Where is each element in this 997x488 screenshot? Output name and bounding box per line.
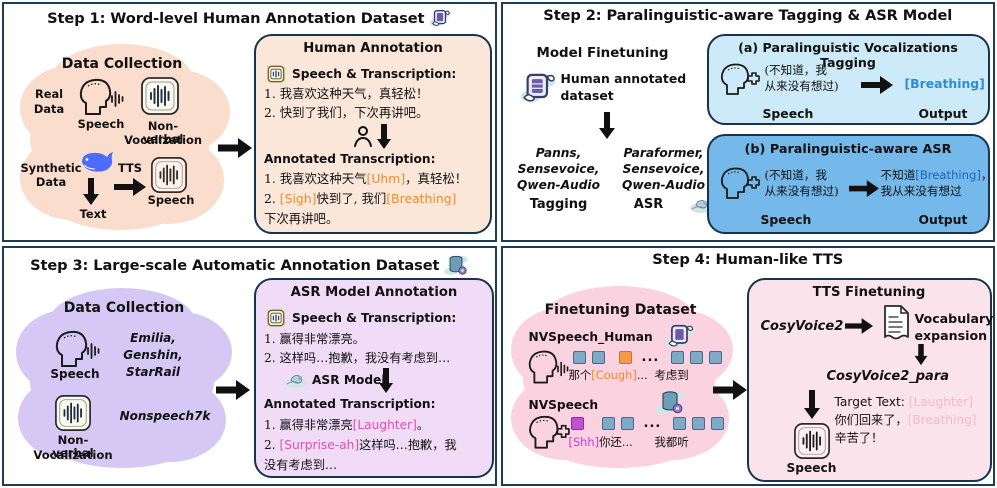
- tts-label: TTS: [118, 162, 142, 175]
- box-b-output-tag: [Breathing]: [915, 168, 981, 182]
- asr-annotation-title: ASR Model Annotation: [256, 285, 492, 300]
- step1-blob-title: Data Collection: [22, 56, 222, 72]
- nvspeech-label: NVSpeech: [529, 398, 599, 412]
- step3-annotated-heading: Annotated Transcription:: [264, 396, 435, 412]
- target-text-line2-pre: 你们回来了，: [835, 413, 908, 427]
- target-text-line3: 辛苦了！: [835, 430, 884, 446]
- row2-text-post: 你还...: [599, 435, 633, 449]
- waveform-icon: [793, 422, 831, 460]
- cosyvoice2-para-label: CosyVoice2_para: [827, 368, 950, 386]
- waveform-icon: [54, 394, 92, 432]
- audio-chip-icon: [264, 62, 288, 86]
- speech-head-icon: [76, 76, 126, 120]
- step3-panel: Step 3: Large-scale Automatic Annotation…: [2, 246, 497, 486]
- text-label: Text: [72, 208, 114, 221]
- step4-blob-title: Finetuning Dataset: [521, 302, 721, 318]
- token-square-blue: [692, 417, 705, 430]
- speech-corpus-1: Emilia,: [110, 332, 196, 346]
- human-annotation-panel: Human Annotation Speech & Transcription:…: [254, 34, 492, 234]
- step3-nonverbal-label-line2: Vocalization: [32, 449, 114, 462]
- asr-model-icon: [284, 370, 308, 390]
- token-square-purple: [571, 417, 584, 430]
- database-stack-cloud-icon: [655, 388, 685, 416]
- nonverbal-label-line2: Vocalization: [122, 134, 204, 147]
- box-b-speech-line1: (不知道，我: [765, 168, 828, 184]
- arrow-right-icon: [861, 76, 893, 94]
- step1-title: Step 1: Word-level Human Annotation Data…: [47, 10, 424, 27]
- annotated-line-3: 下次再讲吧。: [264, 211, 338, 228]
- step3-flow-arrow-icon: [216, 380, 250, 400]
- box-a-output-label: Output: [919, 106, 968, 123]
- annotated-line-2: 2. [Sigh]快到了, 我们[Breathing]: [264, 191, 456, 208]
- model-finetuning-heading: Model Finetuning: [513, 46, 693, 61]
- speech-head-icon: [52, 328, 102, 372]
- step4-title-row: Step 4: Human-like TTS: [503, 251, 994, 268]
- row2-text-end: 我都听: [655, 435, 689, 450]
- step3-blob-title: Data Collection: [24, 300, 224, 316]
- token-square-blue: [690, 351, 703, 364]
- nonverbal-corpus: Nonspeech7k: [110, 410, 220, 424]
- paralinguistic-tagging-box: (a) Paralinguistic Vocalizations Tagging…: [707, 34, 990, 125]
- annotated-line-2-mid: 快到了, 我们: [316, 191, 386, 206]
- talking-head-icon: [525, 414, 571, 452]
- nvspeech-human-text: 那个[Cough]...: [569, 368, 648, 383]
- step3-annotated-line-2-post: 这样吗…抱歉，我: [359, 438, 457, 452]
- annotated-line-1-pre: 1. 我喜欢这种天气: [264, 171, 367, 186]
- step2-panel: Step 2: Paralinguistic-aware Tagging & A…: [501, 2, 996, 242]
- tagging-model-3: Qwen-Audio: [509, 178, 609, 192]
- annotated-line-1: 1. 我喜欢这种天气[Uhm]，真轻松！: [264, 171, 467, 188]
- row1-text-tag: [Cough]: [591, 368, 636, 382]
- tts-speech-label: Speech: [787, 460, 837, 476]
- box-b-output-label: Output: [919, 212, 968, 229]
- arrow-right-icon: [845, 318, 873, 334]
- row1-text-pre: 那个: [569, 368, 592, 382]
- token-square-blue: [592, 351, 605, 364]
- step3-data-collection-blob: Data Collection Speech Emilia, Genshin, …: [10, 276, 242, 476]
- row1-text-end: 考虑到: [655, 368, 689, 383]
- step3-annotated-line-2-pre: 2.: [264, 438, 280, 452]
- step3-speech-line-2: 2. 这样吗…抱歉，我没有考虑到…: [264, 350, 450, 366]
- asr-model-1: Paraformer,: [609, 146, 719, 160]
- speech-corpus-3: StarRail: [110, 366, 196, 380]
- annotated-transcription-heading: Annotated Transcription:: [264, 151, 435, 167]
- token-square-orange: [619, 351, 632, 364]
- arrow-right-icon: [114, 178, 146, 196]
- synthetic-data-label-line1: Synthetic: [18, 162, 84, 175]
- tagging-label: Tagging: [509, 198, 609, 213]
- tts-finetuning-panel: TTS Finetuning CosyVoice2 Vocabulary exp…: [747, 278, 992, 482]
- nvspeech-text: [Shh]你还...: [569, 435, 633, 450]
- asr-annotation-panel: ASR Model Annotation Speech & Transcript…: [254, 278, 494, 478]
- real-data-label-line2: Data: [26, 103, 72, 116]
- token-ellipsis: ...: [642, 350, 660, 365]
- box-b-output-post: ，: [981, 168, 993, 182]
- box-b-title: (b) Paralinguistic-aware ASR: [709, 142, 988, 157]
- step1-data-collection-blob: Data Collection Real Data Speech: [10, 30, 240, 235]
- asr-model-2: Sensevoice,: [609, 162, 719, 176]
- dataset-cloud-icon: [665, 322, 695, 350]
- database-stack-cloud-icon: [444, 253, 468, 277]
- person-icon: [351, 125, 375, 149]
- box-b-output-pre: 不知道: [881, 168, 916, 182]
- step1-panel: Step 1: Word-level Human Annotation Data…: [2, 2, 497, 242]
- step3-title-row: Step 3: Large-scale Automatic Annotation…: [4, 253, 495, 277]
- nvspeech-human-token-row: ...: [573, 350, 723, 365]
- box-b-speech-line2: 从来没有想过): [765, 184, 839, 200]
- speech-corpus-2: Genshin,: [110, 349, 196, 363]
- nvspeech-human-label: NVSpeech_Human: [529, 330, 653, 344]
- tts-waveform-icon: [150, 156, 188, 194]
- step3-annotated-line-1: 1. 赢得非常漂亮[Laughter]。: [264, 417, 429, 433]
- token-square-blue: [711, 417, 724, 430]
- waveform-icon: [140, 76, 180, 116]
- annotated-line-2-tag2: [Breathing]: [386, 191, 456, 206]
- audio-chip-icon: [264, 306, 288, 330]
- arrow-down-icon: [803, 390, 821, 420]
- speech-head-icon: [525, 348, 571, 388]
- step3-speech-heading: Speech & Transcription:: [292, 310, 456, 326]
- step1-title-row: Step 1: Word-level Human Annotation Data…: [4, 7, 495, 29]
- synthetic-data-label-line2: Data: [18, 176, 84, 189]
- paralinguistic-asr-box: (b) Paralinguistic-aware ASR (不知道，我 从来没有…: [707, 134, 990, 234]
- database-cloud-icon: [519, 70, 557, 106]
- box-b-output-line1: 不知道[Breathing]，: [881, 168, 993, 184]
- speech-line-2: 2. 快到了我们，下次再讲吧。: [264, 105, 428, 122]
- vocab-expansion-line1: Vocabulary: [915, 310, 994, 327]
- human-annotation-title: Human Annotation: [256, 41, 490, 56]
- step3-speech-label: Speech: [46, 368, 104, 382]
- step3-annotated-line-1-post: 。: [417, 418, 429, 432]
- arrow-right-icon: [849, 180, 879, 197]
- target-text-tag1: [Laughter]: [909, 395, 973, 409]
- step3-speech-line-1: 1. 赢得非常漂亮。: [264, 331, 365, 347]
- arrow-down-icon: [376, 124, 392, 150]
- step3-annotated-line-1-tag: [Laughter]: [353, 418, 417, 432]
- target-text-line2: 你们回来了，[Breathing]: [835, 412, 977, 428]
- annotated-line-2-pre: 2.: [264, 191, 280, 206]
- step4-title: Step 4: Human-like TTS: [652, 251, 843, 268]
- dataset-cloud-icon: [429, 7, 451, 29]
- arrow-down-icon: [598, 112, 616, 140]
- tagging-model-1: Panns,: [513, 146, 605, 160]
- step2-title: Step 2: Paralinguistic-aware Tagging & A…: [543, 7, 952, 24]
- arrow-down-icon: [913, 344, 929, 366]
- token-ellipsis: ...: [644, 416, 662, 431]
- token-square-blue: [621, 417, 634, 430]
- token-square-blue: [671, 351, 684, 364]
- pipeline-figure: Step 1: Word-level Human Annotation Data…: [0, 0, 997, 488]
- box-a-speech-label: Speech: [763, 106, 814, 123]
- token-square-blue: [673, 417, 686, 430]
- step4-finetuning-dataset-blob: Finetuning Dataset NVSpeech_Human: [507, 276, 739, 476]
- speech-line-1: 1. 我喜欢这种天气，真轻松！: [264, 86, 428, 103]
- deepseek-whale-icon: [76, 146, 116, 174]
- human-annotated-dataset-line2: dataset: [561, 89, 614, 103]
- box-a-speech-line1: (不知道，我: [765, 63, 828, 79]
- talking-head-icon: [717, 166, 761, 202]
- annotated-line-2-tag1: [Sigh]: [280, 191, 317, 206]
- step3-annotated-line-2-tag: [Surprise-ah]: [280, 438, 360, 452]
- arrow-down-icon: [82, 178, 100, 206]
- box-a-speech-line2: 从来没有想过): [765, 79, 839, 95]
- document-icon: [879, 304, 911, 342]
- step1-flow-arrow-icon: [218, 138, 252, 158]
- annotated-line-1-tag: [Uhm]: [367, 171, 406, 186]
- tts-finetuning-title: TTS Finetuning: [749, 285, 990, 300]
- human-annotated-dataset-line1: Human annotated: [561, 72, 687, 86]
- target-text-tag2: [Breathing]: [908, 413, 977, 427]
- nvspeech-token-row: ...: [571, 416, 725, 431]
- speech-transcription-heading: Speech & Transcription:: [292, 66, 456, 82]
- asr-model-label: ASR Model: [312, 372, 386, 388]
- cosyvoice2-label: CosyVoice2: [761, 318, 844, 336]
- step4-panel: Step 4: Human-like TTS Finetuning Datase…: [501, 246, 996, 486]
- tagging-model-2: Sensevoice,: [509, 162, 609, 176]
- talking-head-icon: [717, 62, 761, 98]
- step3-annotated-line-3: 没有考虑到…: [264, 457, 337, 473]
- step2-title-row: Step 2: Paralinguistic-aware Tagging & A…: [503, 7, 994, 24]
- row2-text-tag: [Shh]: [569, 435, 600, 449]
- annotated-line-1-post: ，真轻松！: [405, 171, 467, 186]
- speech-label: Speech: [72, 118, 130, 131]
- box-b-output-line2: 我从来没有想过: [881, 184, 962, 200]
- target-text-label: Target Text:: [835, 395, 905, 409]
- asr-model-3: Qwen-Audio: [609, 178, 719, 192]
- arrow-down-icon: [378, 368, 394, 394]
- vocab-expansion-line2: expansion: [915, 327, 988, 344]
- step3-annotated-line-1-pre: 1. 赢得非常漂亮: [264, 418, 353, 432]
- token-square-blue: [573, 351, 586, 364]
- target-text-line1: Target Text: [Laughter]: [835, 394, 973, 410]
- tts-speech-label: Speech: [144, 194, 198, 207]
- token-square-blue: [602, 417, 615, 430]
- asr-label: ASR: [609, 198, 689, 213]
- real-data-label-line1: Real: [26, 88, 72, 101]
- row1-text-post: ...: [637, 368, 648, 382]
- step3-annotated-line-2: 2. [Surprise-ah]这样吗…抱歉，我: [264, 437, 457, 453]
- step3-title: Step 3: Large-scale Automatic Annotation…: [30, 257, 439, 274]
- box-a-output-tag: [Breathing]: [905, 76, 985, 93]
- box-b-speech-label: Speech: [761, 212, 812, 229]
- token-square-blue: [709, 351, 722, 364]
- step4-flow-arrow-icon: [713, 380, 747, 400]
